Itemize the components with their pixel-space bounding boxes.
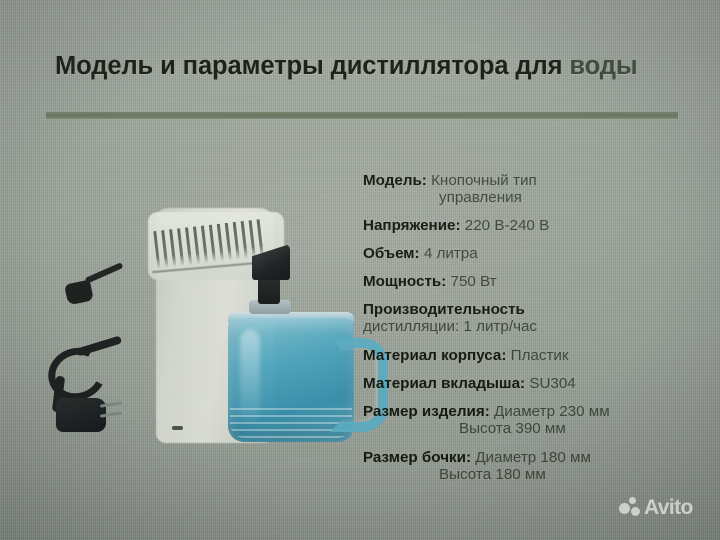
cleaning-brush-head: [64, 280, 94, 306]
spec-label: Объем:: [363, 245, 420, 262]
spec-label: Материал корпуса:: [363, 347, 506, 364]
spec-row-barrel-size: Размер бочки: Диаметр 180 мм Высота 180 …: [363, 449, 693, 483]
photo-speck-dark: [172, 426, 183, 430]
avito-wordmark: Avito: [644, 497, 693, 518]
spec-subvalue: Высота 180 мм: [363, 466, 693, 483]
spec-value: SU304: [525, 375, 576, 392]
spec-value: 4 литра: [420, 245, 478, 262]
spec-label: Размер изделия:: [363, 403, 490, 420]
spec-subvalue: Высота 390 мм: [363, 420, 693, 437]
spec-value: 220 В-240 В: [461, 217, 550, 234]
spec-row-body-material: Материал корпуса: Пластик: [363, 347, 693, 364]
spec-row-liner-material: Материал вкладыша: SU304: [363, 375, 693, 392]
power-plug-body: [56, 398, 106, 432]
spec-row-volume: Объем: 4 литра: [363, 245, 693, 262]
spec-row-power: Мощность: 750 Вт: [363, 273, 693, 290]
title-divider: [46, 112, 678, 119]
spec-row-product-size: Размер изделия: Диаметр 230 мм Высота 39…: [363, 403, 693, 437]
photo-speck-light: [151, 418, 156, 426]
spec-value: Пластик: [506, 347, 568, 364]
spec-label: Модель:: [363, 172, 427, 189]
page-title: Модель и параметры дистиллятора для воды: [55, 52, 683, 81]
spec-label: Материал вкладыша:: [363, 375, 525, 392]
spec-subvalue: управления: [363, 189, 693, 206]
page-title-main: Модель и параметры дистиллятора для: [55, 52, 562, 80]
power-cord-connector: [76, 335, 122, 356]
spec-label: Размер бочки:: [363, 449, 471, 466]
avito-dots-icon: [619, 497, 640, 518]
spec-value: 750 Вт: [446, 273, 496, 290]
spec-subvalue: дистилляции: 1 литр/час: [363, 318, 693, 335]
spec-label: Напряжение:: [363, 217, 461, 234]
spec-row-voltage: Напряжение: 220 В-240 В: [363, 217, 693, 234]
specification-list: Модель: Кнопочный тип управления Напряже…: [363, 172, 693, 494]
spec-value: Диаметр 180 мм: [471, 449, 591, 466]
spec-row-distillation-rate: Производительность дистилляции: 1 литр/ч…: [363, 301, 693, 335]
screenshot-root: Модель и параметры дистиллятора для воды…: [0, 0, 720, 540]
spec-label: Производительность: [363, 301, 525, 318]
spec-value: Кнопочный тип: [427, 172, 537, 189]
page-title-tail: воды: [562, 52, 637, 80]
spec-label: Мощность:: [363, 273, 446, 290]
avito-watermark: Avito: [619, 497, 693, 518]
cleaning-brush-handle: [85, 262, 124, 284]
product-photo: [44, 170, 364, 460]
spec-value: Диаметр 230 мм: [490, 403, 610, 420]
spec-row-model: Модель: Кнопочный тип управления: [363, 172, 693, 206]
